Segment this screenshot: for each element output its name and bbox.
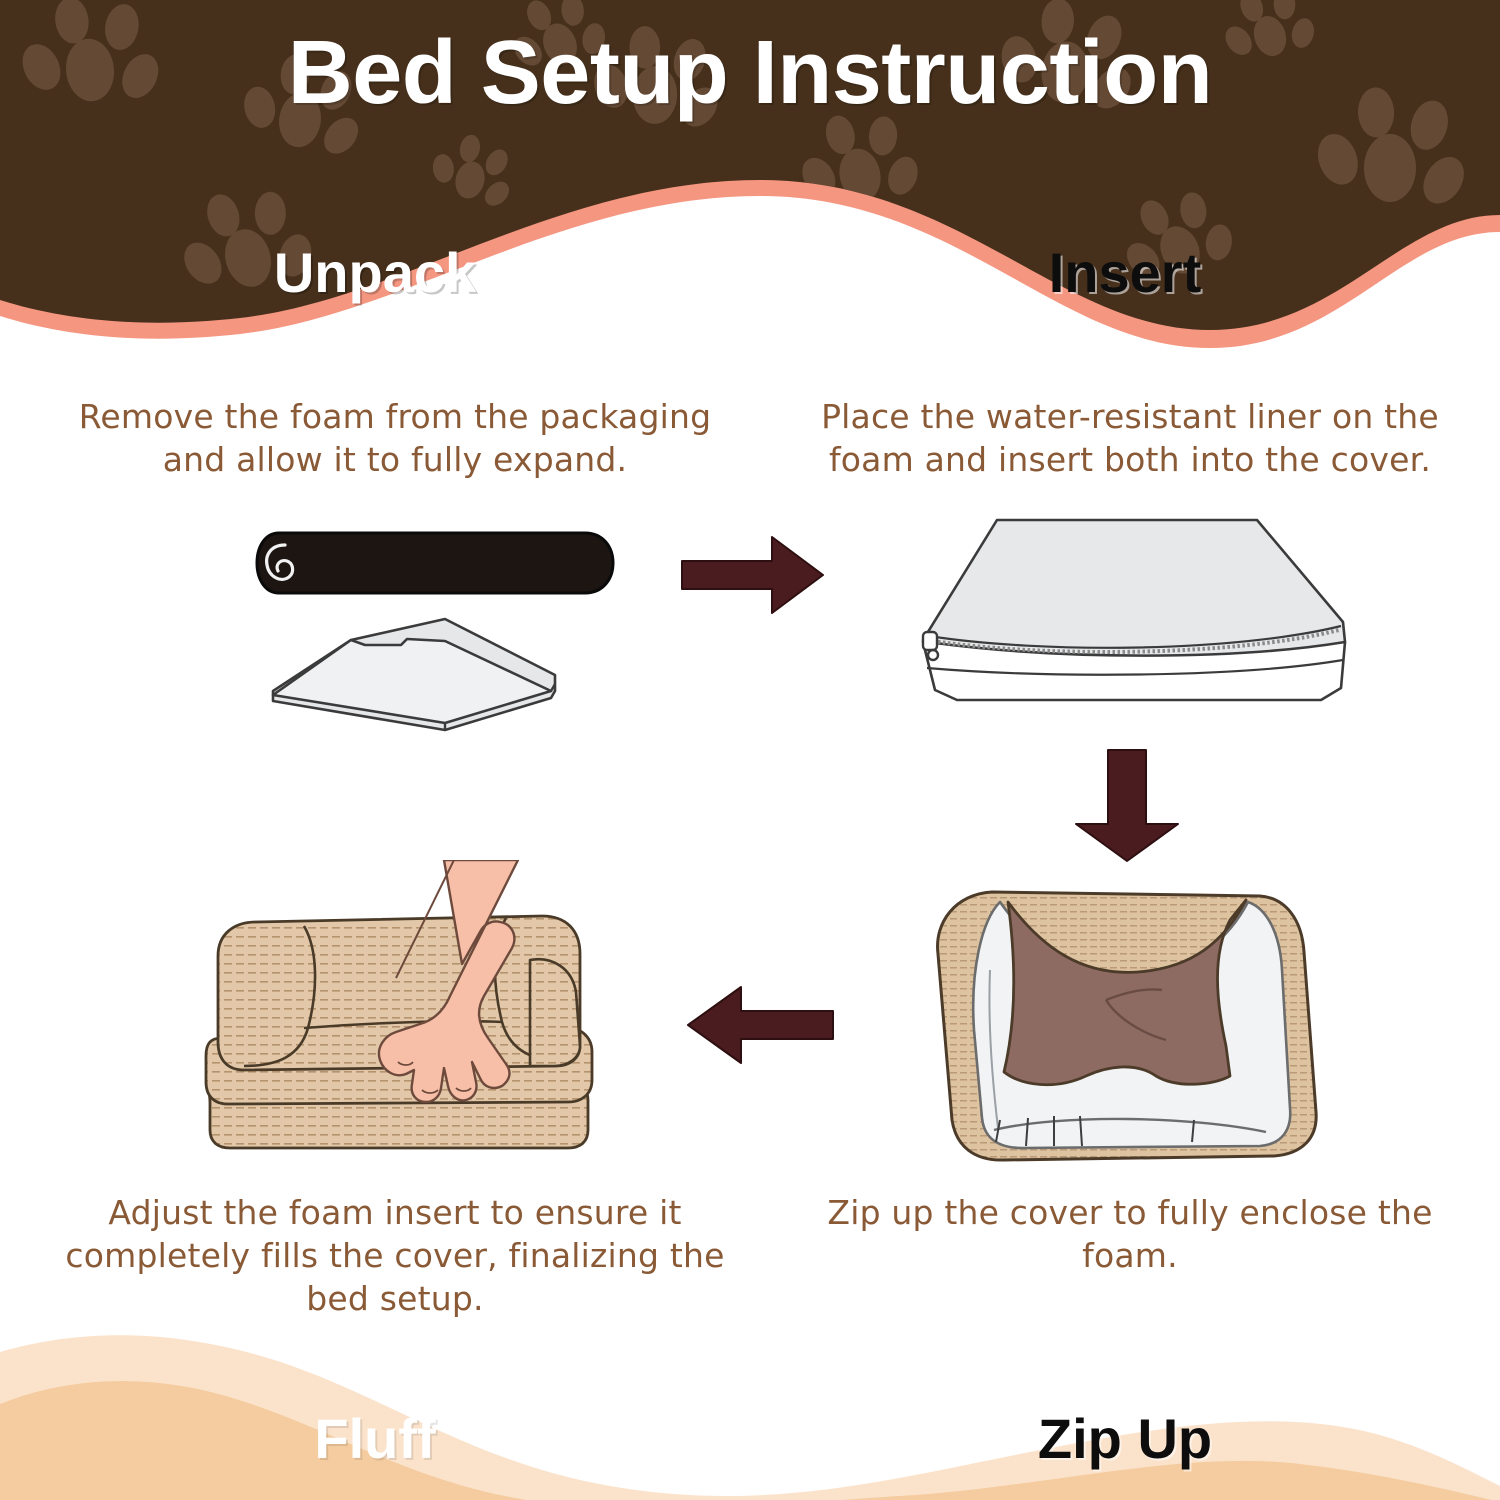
- illustration-zippered-cushion: [905, 500, 1355, 715]
- rolled-foam-icon: [257, 533, 613, 593]
- illustration-open-bed-cover: [930, 880, 1330, 1170]
- illustration-rolled-foam-and-liner: [255, 505, 635, 755]
- step-caption-fluff: Adjust the foam insert to ensure it comp…: [55, 1192, 735, 1321]
- cushion-top-icon: [923, 520, 1345, 656]
- page-title: Bed Setup Instruction: [0, 22, 1500, 125]
- illustration-bolster-bed-with-hand: [200, 860, 620, 1175]
- step-caption-insert: Place the water-resistant liner on the f…: [790, 396, 1470, 482]
- step-heading-unpack: Unpack: [0, 240, 750, 305]
- arrow-unpack-to-insert-icon: [680, 535, 825, 615]
- bed-setup-instruction-poster: Bed Setup Instruction Unpack Insert Remo…: [0, 0, 1500, 1500]
- footer-band: Fluff Zip Up: [0, 1330, 1500, 1500]
- step-caption-unpack: Remove the foam from the packaging and a…: [55, 396, 735, 482]
- step-heading-fluff: Fluff: [0, 1406, 750, 1471]
- folded-liner-icon: [273, 619, 555, 730]
- arrow-zipup-to-fluff-icon: [685, 985, 835, 1065]
- arrow-insert-to-zipup-icon: [1072, 748, 1182, 863]
- header-band: Bed Setup Instruction Unpack Insert: [0, 0, 1500, 360]
- step-heading-insert: Insert: [750, 240, 1500, 305]
- step-caption-zipup: Zip up the cover to fully enclose the fo…: [800, 1192, 1460, 1278]
- step-heading-zipup: Zip Up: [750, 1406, 1500, 1471]
